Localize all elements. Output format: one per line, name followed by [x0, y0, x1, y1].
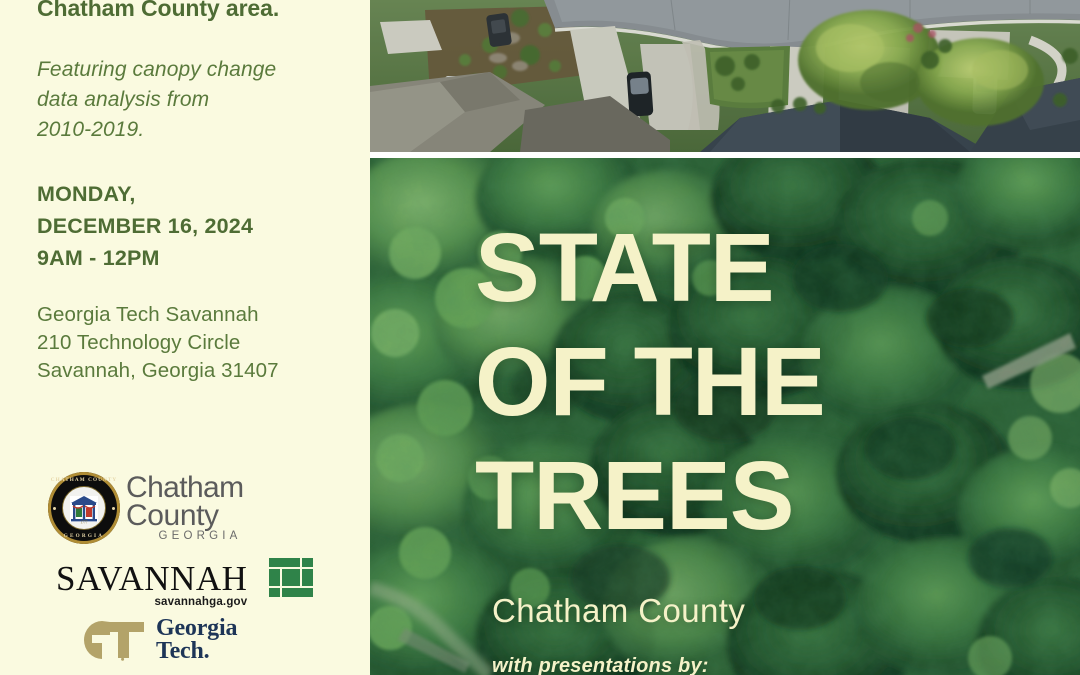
lede-text: Chatham County area. [37, 0, 357, 22]
georgia-tech-logo: Georgia Tech. [76, 617, 237, 663]
event-day: MONDAY, [37, 179, 357, 211]
savannah-logo: SAVANNAH savannahga.gov [56, 558, 313, 599]
savannah-square-grid-icon [269, 558, 313, 599]
chatham-wordmark: Chatham County GEORGIA [126, 474, 244, 542]
left-panel-content: Chatham County area. Featuring canopy ch… [37, 0, 357, 386]
chatham-word-1: Chatham [126, 474, 244, 502]
featuring-line-3: 2010-2019. [37, 115, 357, 145]
address-venue: Georgia Tech Savannah [37, 301, 357, 329]
hero-subtitle: Chatham County [492, 592, 745, 630]
gt-monogram-icon [76, 619, 148, 661]
gt-word-2: Tech. [156, 640, 237, 663]
gt-word-1: Georgia [156, 617, 237, 640]
address-street: 210 Technology Circle [37, 329, 357, 357]
chatham-county-logo: CHATHAM COUNTY GEORGIA [48, 472, 244, 544]
featuring-line-2: data analysis from [37, 85, 357, 115]
seal-top-text: CHATHAM COUNTY [48, 477, 120, 483]
event-address: Georgia Tech Savannah 210 Technology Cir… [37, 301, 357, 385]
presentations-label: with presentations by: [492, 655, 709, 675]
poster: Chatham County area. Featuring canopy ch… [0, 0, 1080, 675]
seal-bottom-text: GEORGIA [48, 533, 120, 539]
svg-text:1777: 1777 [80, 520, 87, 524]
savannah-wordmark: SAVANNAH savannahga.gov [56, 561, 247, 596]
left-info-panel: Chatham County area. Featuring canopy ch… [0, 0, 370, 675]
address-city: Savannah, Georgia 31407 [37, 357, 357, 385]
gazebo-emblem-icon: 1777 [69, 494, 99, 524]
event-date: DECEMBER 16, 2024 [37, 211, 357, 243]
chatham-county-seal-icon: CHATHAM COUNTY GEORGIA [48, 472, 120, 544]
chatham-word-2: County [126, 502, 244, 530]
savannah-url: savannahga.gov [154, 596, 247, 608]
aerial-neighborhood-photo [370, 0, 1080, 152]
georgia-tech-wordmark: Georgia Tech. [156, 617, 237, 663]
event-datetime: MONDAY, DECEMBER 16, 2024 9AM - 12PM [37, 179, 357, 274]
event-time: 9AM - 12PM [37, 243, 357, 275]
featuring-text: Featuring canopy change data analysis fr… [37, 55, 357, 144]
featuring-line-1: Featuring canopy change [37, 55, 357, 85]
savannah-name: SAVANNAH [56, 561, 247, 596]
chatham-word-3: GEORGIA [126, 531, 244, 542]
